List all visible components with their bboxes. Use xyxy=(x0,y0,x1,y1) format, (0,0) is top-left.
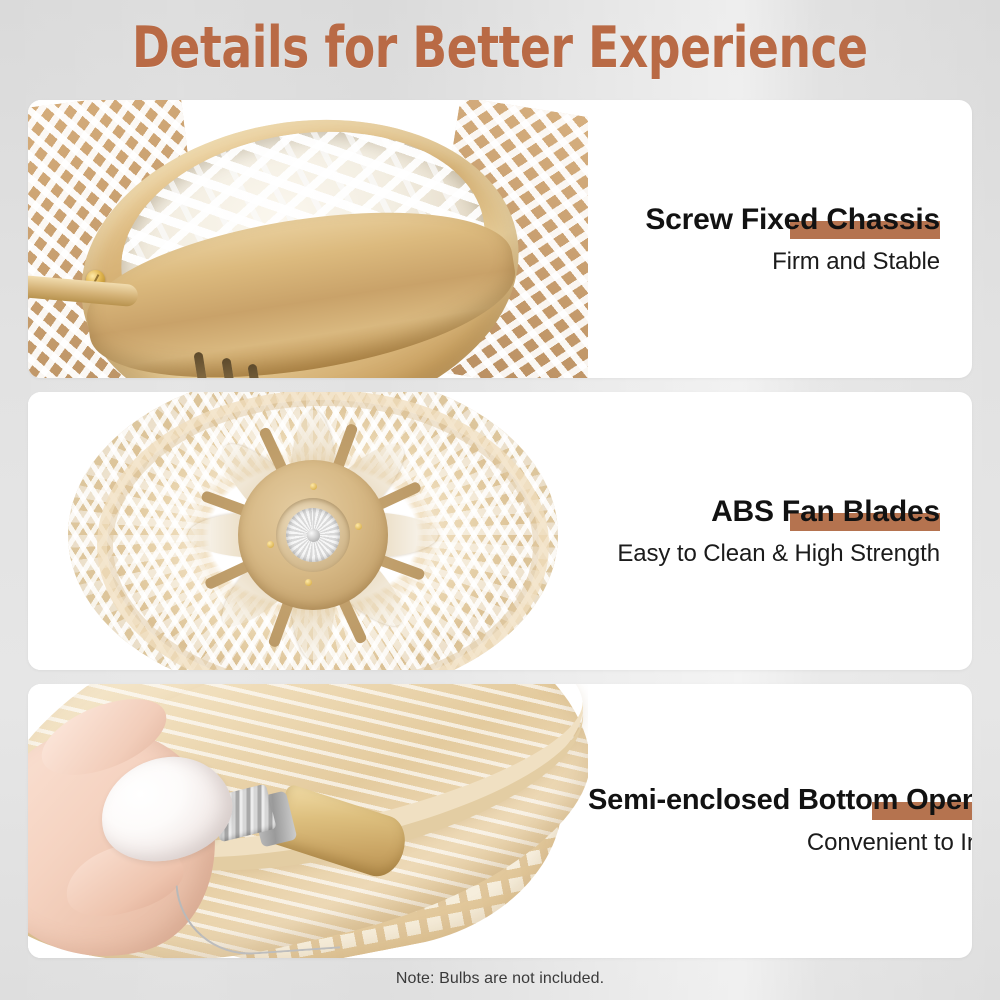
feature-card-screw-fixed-chassis: Certificate QC Screw Fixed Chassis Firm … xyxy=(28,100,972,378)
hub-screw xyxy=(310,483,317,490)
feature-subheading: Easy to Clean & High Strength xyxy=(617,540,940,568)
page-header: Details for Better Experience xyxy=(0,0,1000,96)
page-footer: Note: Bulbs are not included. xyxy=(0,958,1000,1000)
heading-with-highlight: ABS Fan Blades xyxy=(711,495,940,528)
feature-text-block: ABS Fan Blades Easy to Clean & High Stre… xyxy=(588,392,972,670)
feature-text-block: Semi-enclosed Bottom Opening Convenient … xyxy=(588,684,972,958)
feature-subheading: Convenient to Install xyxy=(807,829,972,857)
product-photo-gold-chassis: Certificate QC xyxy=(28,100,588,378)
hub-screw xyxy=(355,523,362,530)
feature-heading: Screw Fixed Chassis xyxy=(645,203,940,236)
heading-with-highlight: Screw Fixed Chassis xyxy=(645,203,940,236)
fan-assembly xyxy=(168,420,458,650)
feature-card-abs-fan-blades: ABS Fan Blades Easy to Clean & High Stre… xyxy=(28,392,972,670)
product-photo-fan-blades xyxy=(28,392,588,670)
hub-screw xyxy=(305,579,312,586)
footer-note: Note: Bulbs are not included. xyxy=(396,970,604,988)
heading-with-highlight: Semi-enclosed Bottom Opening xyxy=(588,785,972,817)
feature-subheading: Firm and Stable xyxy=(772,248,940,276)
fan-hub-center-screw xyxy=(307,529,320,542)
page-title: Details for Better Experience xyxy=(132,20,868,77)
feature-heading: Semi-enclosed Bottom Opening xyxy=(588,785,972,817)
feature-card-semi-enclosed-bottom-opening: Semi-enclosed Bottom Opening Convenient … xyxy=(28,684,972,958)
feature-text-block: Screw Fixed Chassis Firm and Stable xyxy=(588,100,972,378)
feature-heading: ABS Fan Blades xyxy=(711,495,940,528)
product-photo-bulb-install xyxy=(28,684,588,958)
hub-screw xyxy=(267,541,274,548)
